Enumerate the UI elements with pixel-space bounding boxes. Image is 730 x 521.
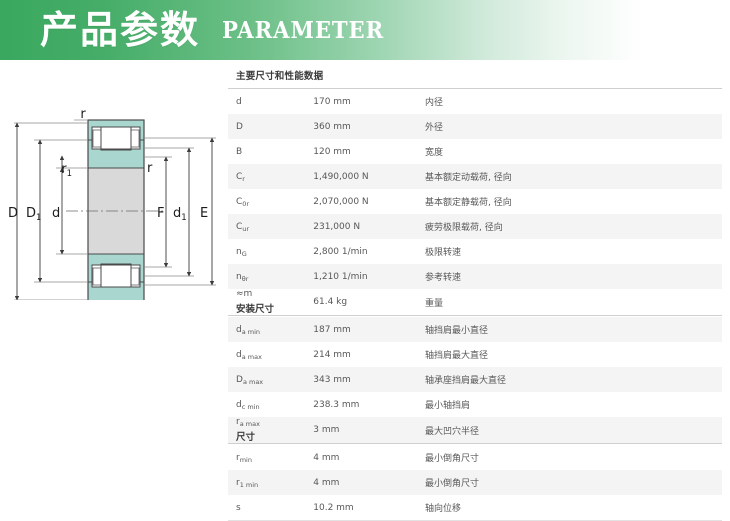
label-r-top: r — [80, 107, 86, 122]
spec-symbol: Cur — [228, 214, 305, 239]
table-row: ≈m安装尺寸61.4 kg重量 — [228, 289, 722, 316]
spec-symbol: nθr — [228, 264, 305, 289]
table-row: d170 mm内径 — [228, 89, 722, 115]
table-row: da min187 mm轴挡肩最小直径 — [228, 317, 722, 342]
table-row: C0r2,070,000 N基本额定静载荷, 径向 — [228, 189, 722, 214]
table-row: r1 min4 mm最小倒角尺寸 — [228, 470, 722, 495]
spec-description: 基本额定静载荷, 径向 — [417, 189, 722, 214]
label-E: E — [200, 206, 208, 221]
spec-symbol: d — [228, 89, 305, 115]
spec-value: 2,070,000 N — [305, 189, 417, 214]
roller-lower — [101, 264, 131, 287]
spec-value: 360 mm — [305, 114, 417, 139]
spec-value: 2,800 1/min — [305, 239, 417, 264]
page-title-en: PARAMETER — [222, 19, 384, 42]
label-D1: D1 — [26, 206, 41, 223]
spec-description: 轴挡肩最小直径 — [417, 317, 722, 342]
spec-symbol: ra max尺寸 — [228, 417, 305, 444]
spec-value: 1,490,000 N — [305, 164, 417, 189]
spec-description: 轴挡肩最大直径 — [417, 342, 722, 367]
spec-symbol: B — [228, 139, 305, 164]
spec-description: 最小倒角尺寸 — [417, 470, 722, 495]
spec-symbol: da max — [228, 342, 305, 367]
table-row: Cr1,490,000 N基本额定动载荷, 径向 — [228, 164, 722, 189]
roller-upper — [101, 127, 131, 150]
spec-table-panel: 主要尺寸和性能数据 d170 mm内径D360 mm外径B120 mm宽度Cr1… — [228, 62, 722, 521]
header-title-group: 产品参数 PARAMETER — [40, 0, 398, 60]
table-row: s10.2 mm轴向位移 — [228, 495, 722, 521]
spec-description: 宽度 — [417, 139, 722, 164]
label-F: F — [157, 206, 164, 221]
spec-description: 最大凹穴半径 — [417, 417, 722, 444]
spec-description: 最小倒角尺寸 — [417, 445, 722, 470]
spec-description: 最小轴挡肩 — [417, 392, 722, 417]
table-row: D360 mm外径 — [228, 114, 722, 139]
label-r1: r1 — [61, 162, 72, 179]
spec-symbol: s — [228, 495, 305, 521]
bearing-cross-section-svg: 0%#bcdde3 28%#ffffff 62%#eef7f8 100%#a9c… — [0, 60, 228, 300]
table-row: ra max尺寸3 mm最大凹穴半径 — [228, 417, 722, 444]
table-row: nG2,800 1/min极限转速 — [228, 239, 722, 264]
page-content: 0%#bcdde3 28%#ffffff 62%#eef7f8 100%#a9c… — [0, 60, 730, 475]
spec-value: 3 mm — [305, 417, 417, 444]
spec-value: 170 mm — [305, 89, 417, 115]
table-row: da max214 mm轴挡肩最大直径 — [228, 342, 722, 367]
table-row: Da max343 mm轴承座挡肩最大直径 — [228, 367, 722, 392]
spec-symbol: r1 min — [228, 470, 305, 495]
page-title-cn: 产品参数 — [40, 11, 200, 49]
spec-description: 轴承座挡肩最大直径 — [417, 367, 722, 392]
spec-description: 重量 — [417, 289, 722, 316]
label-d1: d1 — [173, 206, 187, 223]
spec-value: 214 mm — [305, 342, 417, 367]
spec-symbol: ≈m安装尺寸 — [228, 289, 305, 316]
spec-value: 10.2 mm — [305, 495, 417, 521]
spec-section-title: 主要尺寸和性能数据 — [228, 62, 722, 88]
spec-symbol: da min — [228, 317, 305, 342]
label-D: D — [8, 206, 18, 221]
spec-value: 61.4 kg — [305, 289, 417, 316]
spec-description: 轴向位移 — [417, 495, 722, 521]
spec-symbol: C0r — [228, 189, 305, 214]
spec-description: 外径 — [417, 114, 722, 139]
table-row: nθr1,210 1/min参考转速 — [228, 264, 722, 289]
spec-symbol: rmin — [228, 445, 305, 470]
table-row: Cur231,000 N疲劳极限载荷, 径向 — [228, 214, 722, 239]
table-row: B120 mm宽度 — [228, 139, 722, 164]
spec-value: 238.3 mm — [305, 392, 417, 417]
spec-description: 参考转速 — [417, 264, 722, 289]
spec-table: d170 mm内径D360 mm外径B120 mm宽度Cr1,490,000 N… — [228, 88, 722, 521]
spec-symbol: Cr — [228, 164, 305, 189]
spec-symbol: D — [228, 114, 305, 139]
label-r-right: r — [147, 161, 153, 176]
spec-description: 基本额定动载荷, 径向 — [417, 164, 722, 189]
spec-description: 内径 — [417, 89, 722, 115]
spec-description: 极限转速 — [417, 239, 722, 264]
spec-value: 4 mm — [305, 445, 417, 470]
spec-value: 120 mm — [305, 139, 417, 164]
spec-symbol: Da max — [228, 367, 305, 392]
spec-value: 231,000 N — [305, 214, 417, 239]
label-d: d — [52, 206, 60, 221]
bearing-diagram: 0%#bcdde3 28%#ffffff 62%#eef7f8 100%#a9c… — [0, 60, 228, 300]
spec-value: 343 mm — [305, 367, 417, 392]
spec-value: 187 mm — [305, 317, 417, 342]
spec-value: 1,210 1/min — [305, 264, 417, 289]
page-header: 产品参数 PARAMETER — [0, 0, 730, 60]
table-row: dc min238.3 mm最小轴挡肩 — [228, 392, 722, 417]
spec-value: 4 mm — [305, 470, 417, 495]
table-row: rmin4 mm最小倒角尺寸 — [228, 445, 722, 470]
spec-symbol: dc min — [228, 392, 305, 417]
spec-symbol: nG — [228, 239, 305, 264]
spec-description: 疲劳极限载荷, 径向 — [417, 214, 722, 239]
